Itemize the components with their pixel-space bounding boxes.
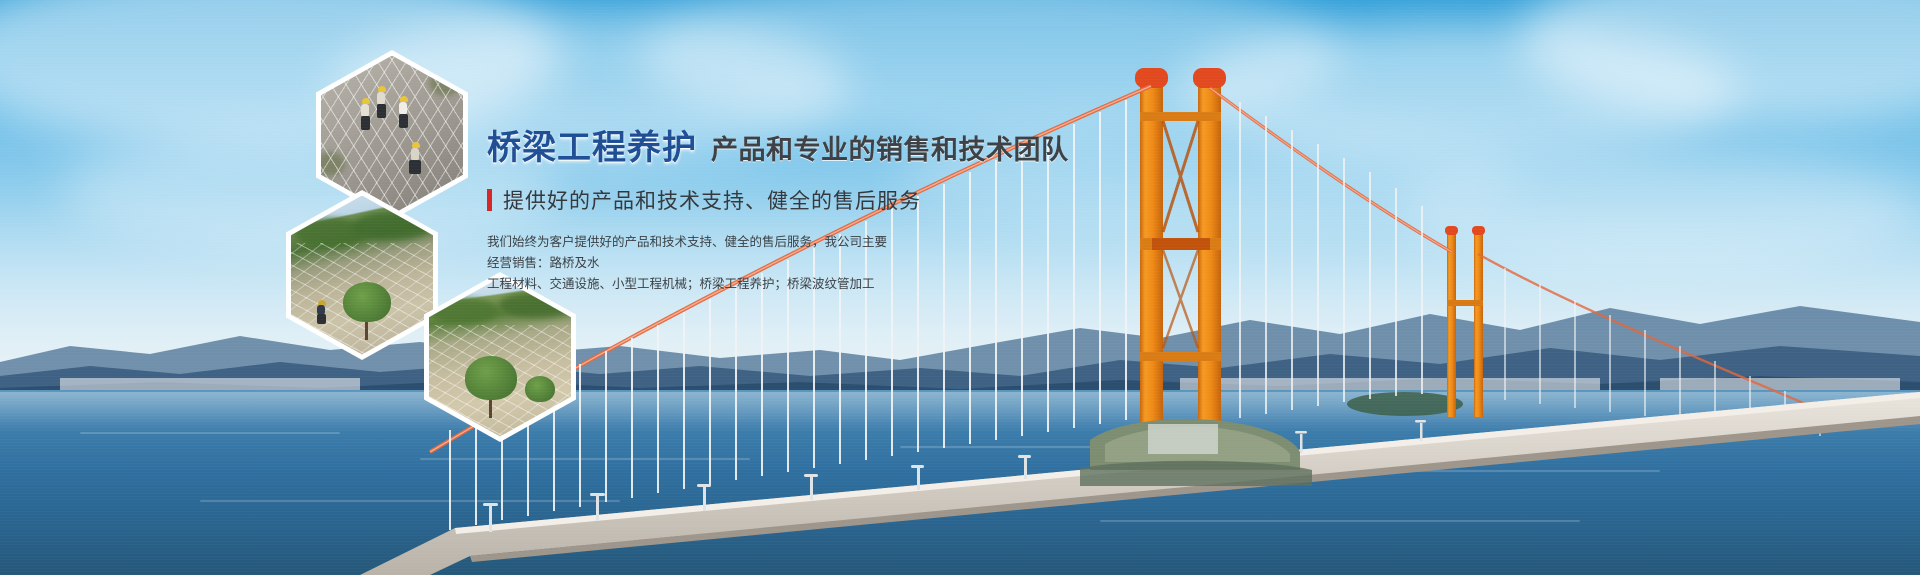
bridge-tower-main	[1135, 68, 1226, 439]
headline-main: 桥梁工程养护	[487, 120, 697, 169]
body-copy: 我们始终为客户提供好的产品和技术支持、健全的售后服务，我公司主要经营销售：路桥及…	[487, 232, 892, 295]
forest	[353, 212, 433, 240]
body-line-2: 工程材料、交通设施、小型工程机械；桥梁工程养护；桥梁波纹管加工	[487, 274, 892, 295]
headline-sub: 产品和专业的销售和技术团队	[711, 128, 1069, 167]
banner-copy: 桥梁工程养护 产品和专业的销售和技术团队 提供好的产品和技术支持、健全的售后服务…	[487, 120, 1047, 295]
tree	[343, 282, 391, 322]
tree	[525, 376, 555, 402]
subtitle-row: 提供好的产品和技术支持、健全的售后服务	[487, 185, 1047, 215]
photo-slope-protection-net[interactable]	[286, 190, 438, 360]
forest	[499, 292, 571, 318]
body-line-1: 我们始终为客户提供好的产品和技术支持、健全的售后服务，我公司主要经营销售：路桥及…	[487, 232, 892, 274]
subtitle: 提供好的产品和技术支持、健全的售后服务	[503, 185, 921, 215]
headline: 桥梁工程养护 产品和专业的销售和技术团队	[487, 120, 1047, 169]
tree	[465, 356, 517, 400]
hero-banner: 桥梁工程养护 产品和专业的销售和技术团队 提供好的产品和技术支持、健全的售后服务…	[0, 0, 1920, 575]
accent-bar-icon	[487, 189, 492, 211]
photo-slope-greening[interactable]	[424, 272, 576, 442]
bridge-pier-island	[1080, 419, 1312, 486]
forest	[429, 298, 499, 324]
